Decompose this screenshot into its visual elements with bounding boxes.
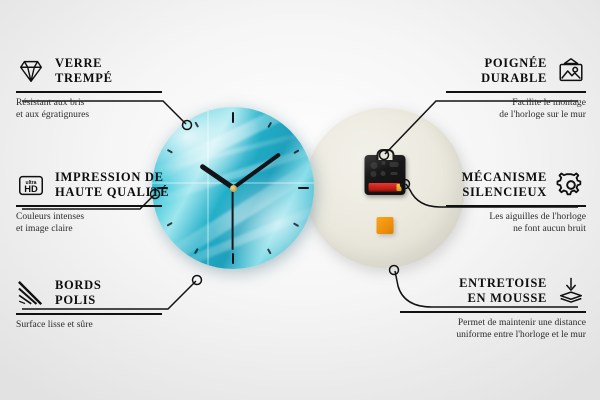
gear-icon [556,170,586,200]
foam-spacer [377,217,394,234]
feature-entretoise-en-mousse: ENTRETOISE EN MOUSSE Permet de maintenir… [376,276,586,342]
hanging-frame-icon [556,56,586,86]
divider [446,205,586,207]
feature-title: BORDS POLIS [55,278,102,308]
feature-title: ENTRETOISE EN MOUSSE [459,276,547,306]
feature-title: IMPRESSION DE HAUTE QUALITÉ [55,170,169,200]
feature-subtitle: Surface lisse et sûre [16,319,206,332]
feature-title: POIGNÉE DURABLE [481,56,547,86]
feature-subtitle: Couleurs intenses et image claire [16,211,206,236]
svg-text:HD: HD [24,184,38,194]
divider [16,91,162,93]
feature-subtitle: Les aiguilles de l'horloge ne font aucun… [396,211,586,236]
minute-hand [232,152,281,189]
divider [400,311,586,313]
ultra-hd-icon: ultra HD [16,170,46,200]
divider [16,313,162,315]
clock-hub [230,185,237,192]
polished-edges-icon [16,278,46,308]
second-hand [232,188,234,250]
feature-subtitle: Facilite le montage de l'horloge sur le … [396,97,586,122]
feature-poignee-durable: POIGNÉE DURABLE Facilite le montage de l… [396,56,586,122]
infographic-stage: VERRE TREMPÉ Résistant aux bris et aux é… [0,0,600,400]
feature-title: VERRE TREMPÉ [55,56,113,86]
feature-verre-trempe: VERRE TREMPÉ Résistant aux bris et aux é… [16,56,206,122]
divider [16,205,162,207]
feature-subtitle: Résistant aux bris et aux égratignures [16,97,206,122]
feature-mecanisme-silencieux: MÉCANISME SILENCIEUX Les aiguilles de l'… [396,170,586,236]
feature-impression-haute-qualite: ultra HD IMPRESSION DE HAUTE QUALITÉ Cou… [16,170,206,236]
foam-spacer-arrow-icon [556,276,586,306]
divider [446,91,586,93]
feature-title: MÉCANISME SILENCIEUX [462,170,547,200]
diamond-icon [16,56,46,86]
feature-bords-polis: BORDS POLIS Surface lisse et sûre [16,278,206,331]
feature-subtitle: Permet de maintenir une distance uniform… [376,317,586,342]
